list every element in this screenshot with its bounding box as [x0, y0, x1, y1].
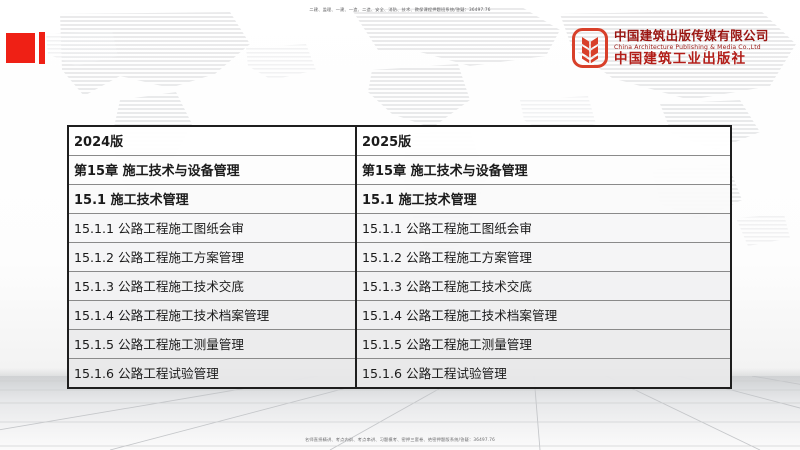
table-row: 15.1.1 公路工程施工图纸会审 15.1.1 公路工程施工图纸会审: [68, 214, 731, 243]
book-emblem-icon: [572, 28, 608, 68]
cell-2025-item-5: 15.1.5 公路工程施工测量管理: [356, 330, 731, 359]
cell-2025-chapter: 第15章 施工技术与设备管理: [356, 156, 731, 185]
comparison-table-body: 2024版 2025版 第15章 施工技术与设备管理 第15章 施工技术与设备管…: [68, 126, 731, 388]
cell-2024-item-6: 15.1.6 公路工程试验管理: [68, 359, 356, 389]
table-row-section: 15.1 施工技术管理 15.1 施工技术管理: [68, 185, 731, 214]
cell-2025-item-1: 15.1.1 公路工程施工图纸会审: [356, 214, 731, 243]
publisher-logo: 中国建筑出版传媒有限公司 China Architecture Publishi…: [572, 28, 769, 68]
cell-2025-header: 2025版: [356, 126, 731, 156]
slide-canvas: 二建、监理、一建、一造、二造、安全、消防、技术、教保课程押题班系统/答疑：364…: [0, 0, 800, 450]
table-row: 15.1.4 公路工程施工技术档案管理 15.1.4 公路工程施工技术档案管理: [68, 301, 731, 330]
table-row: 15.1.3 公路工程施工技术交底 15.1.3 公路工程施工技术交底: [68, 272, 731, 301]
table-row: 15.1.5 公路工程施工测量管理 15.1.5 公路工程施工测量管理: [68, 330, 731, 359]
cell-2024-item-2: 15.1.2 公路工程施工方案管理: [68, 243, 356, 272]
cell-2024-item-5: 15.1.5 公路工程施工测量管理: [68, 330, 356, 359]
cell-2024-item-4: 15.1.4 公路工程施工技术档案管理: [68, 301, 356, 330]
cell-2024-header: 2024版: [68, 126, 356, 156]
version-comparison-table: 2024版 2025版 第15章 施工技术与设备管理 第15章 施工技术与设备管…: [67, 125, 732, 389]
red-square-decoration: [6, 33, 35, 63]
logo-company-name-cn: 中国建筑出版传媒有限公司: [614, 30, 769, 43]
cell-2025-item-6: 15.1.6 公路工程试验管理: [356, 359, 731, 389]
red-bar-decoration: [39, 32, 45, 64]
cell-2025-item-3: 15.1.3 公路工程施工技术交底: [356, 272, 731, 301]
table-row: 15.1.6 公路工程试验管理 15.1.6 公路工程试验管理: [68, 359, 731, 389]
cell-2024-item-3: 15.1.3 公路工程施工技术交底: [68, 272, 356, 301]
version-comparison-table-wrapper: 2024版 2025版 第15章 施工技术与设备管理 第15章 施工技术与设备管…: [67, 125, 730, 389]
logo-press-name-cn: 中国建筑工业出版社: [614, 53, 769, 67]
header-course-note: 二建、监理、一建、一造、二造、安全、消防、技术、教保课程押题班系统/答疑：364…: [0, 7, 800, 13]
cell-2024-item-1: 15.1.1 公路工程施工图纸会审: [68, 214, 356, 243]
table-row-chapter: 第15章 施工技术与设备管理 第15章 施工技术与设备管理: [68, 156, 731, 185]
cell-2024-section: 15.1 施工技术管理: [68, 185, 356, 214]
cell-2024-chapter: 第15章 施工技术与设备管理: [68, 156, 356, 185]
table-row-header: 2024版 2025版: [68, 126, 731, 156]
cell-2025-item-4: 15.1.4 公路工程施工技术档案管理: [356, 301, 731, 330]
table-row: 15.1.2 公路工程施工方案管理 15.1.2 公路工程施工方案管理: [68, 243, 731, 272]
cell-2025-section: 15.1 施工技术管理: [356, 185, 731, 214]
footer-course-note: 名师直授精讲、考点内训、考点串讲、习题模考、密押三套卷、绝密押题版系统/答疑：3…: [0, 437, 800, 443]
cell-2025-item-2: 15.1.2 公路工程施工方案管理: [356, 243, 731, 272]
